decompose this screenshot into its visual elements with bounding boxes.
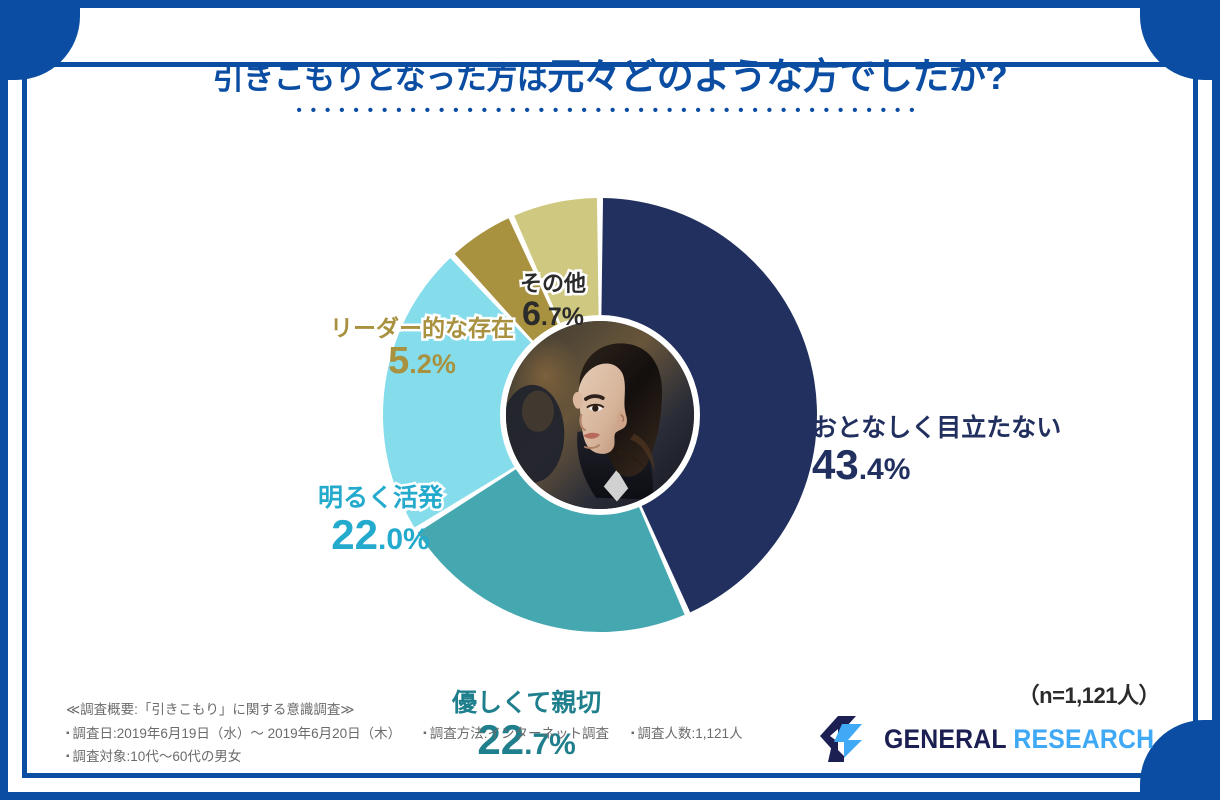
title-dotted-underline: ••••••••••••••••••••••••••••••••••••••••…	[0, 105, 1220, 117]
bullet-icon: ▪	[423, 728, 427, 739]
slice-label-name: リーダー的な存在	[330, 316, 514, 340]
survey-count: ▪調査人数:1,121人	[631, 726, 743, 741]
logo-word-research: RESEARCH	[1014, 724, 1155, 754]
portrait-illustration	[506, 321, 694, 509]
survey-method-text: 調査方法:インターネット調査	[430, 726, 609, 741]
logo-mark-icon	[818, 714, 874, 764]
sample-size-note: （n=1,121人）	[1018, 678, 1160, 710]
frame-edge-bottom	[0, 792, 1220, 800]
survey-overview-row-2: ▪調査日:2019年6月19日（水）〜 2019年6月20日（木）▪調査方法:イ…	[66, 722, 765, 745]
survey-overview-row-3: ▪調査対象:10代〜60代の男女	[66, 745, 765, 768]
slice-label-leader: リーダー的な存在 5.2%	[330, 316, 514, 382]
bullet-icon: ▪	[66, 728, 70, 739]
title-part-1: 引きこもりとなった方は	[213, 61, 548, 96]
slice-value-frac: .4%	[859, 453, 911, 486]
slice-label-value: 6.7%	[520, 297, 586, 333]
slice-value-frac: .7%	[541, 303, 584, 331]
slice-label-other: その他 6.7%	[520, 272, 586, 333]
frame-rule-bottom	[22, 773, 1198, 778]
survey-date: ▪調査日:2019年6月19日（水）〜 2019年6月20日（木）	[66, 726, 401, 741]
pie-chart: おとなしく目立たない 43.4% 優しくて親切 22.7% 明るく活発 22.0…	[0, 120, 1220, 680]
survey-target-text: 調査対象:10代〜60代の男女	[73, 749, 242, 764]
slice-value-int: 22	[331, 511, 378, 558]
center-portrait-photo	[500, 315, 700, 515]
survey-date-text: 調査日:2019年6月19日（水）〜 2019年6月20日（木）	[73, 726, 402, 741]
slice-value-int: 43	[812, 441, 859, 488]
survey-target: ▪調査対象:10代〜60代の男女	[66, 749, 241, 764]
survey-method: ▪調査方法:インターネット調査	[423, 726, 609, 741]
title-part-2: 元々どのような方でしたか?	[547, 56, 1007, 97]
slice-label-name: 明るく活発	[318, 485, 443, 511]
slice-label-value: 5.2%	[330, 342, 514, 382]
slice-value-int: 6	[522, 295, 541, 333]
survey-overview: ≪調査概要:「引きこもり」に関する意識調査≫ ▪調査日:2019年6月19日（水…	[66, 698, 765, 768]
bullet-icon: ▪	[66, 751, 70, 762]
frame-edge-top	[0, 0, 1220, 8]
slice-value-frac: .0%	[378, 523, 430, 556]
title-text: 引きこもりとなった方は元々どのような方でしたか?	[0, 46, 1220, 100]
slice-label-name: おとなしく目立たない	[812, 415, 1061, 441]
page-title: 引きこもりとなった方は元々どのような方でしたか? •••••••••••••••…	[0, 46, 1220, 117]
infographic-canvas: 引きこもりとなった方は元々どのような方でしたか? •••••••••••••••…	[0, 0, 1220, 800]
slice-label-akaruku: 明るく活発 22.0%	[318, 485, 443, 557]
slice-label-otonashiku: おとなしく目立たない 43.4%	[812, 415, 1061, 487]
slice-label-name: その他	[520, 272, 586, 295]
survey-overview-heading: ≪調査概要:「引きこもり」に関する意識調査≫	[66, 698, 765, 721]
brand-logo: GENERAL RESEARCH	[818, 714, 1178, 764]
slice-value-int: 5	[388, 340, 409, 382]
pie-graphic	[380, 195, 820, 635]
slice-label-value: 43.4%	[812, 443, 1061, 487]
logo-word-general: GENERAL	[884, 724, 1006, 754]
logo-wordmark: GENERAL RESEARCH	[884, 724, 1154, 755]
survey-count-text: 調査人数:1,121人	[638, 726, 743, 741]
slice-label-value: 22.0%	[318, 513, 443, 557]
bullet-icon: ▪	[631, 728, 635, 739]
slice-value-frac: .2%	[409, 349, 456, 379]
